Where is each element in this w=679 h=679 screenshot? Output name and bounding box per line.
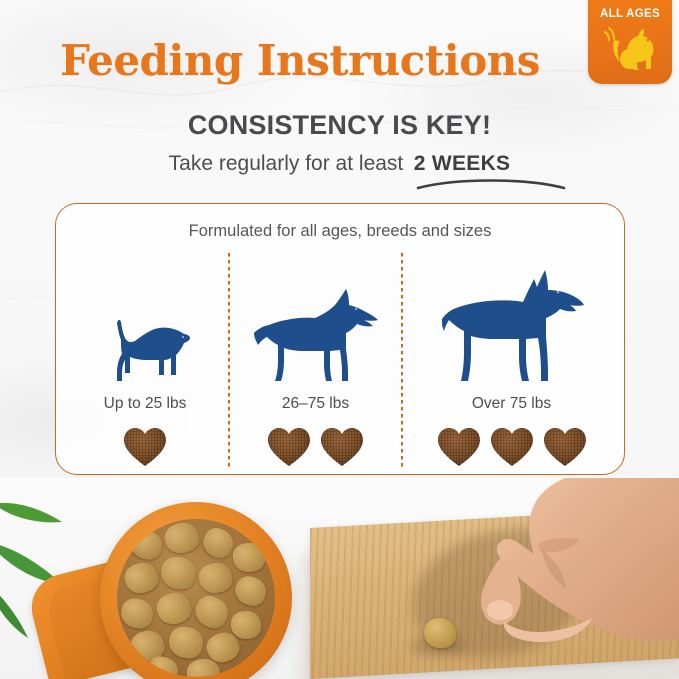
treat-row-medium [266, 422, 365, 472]
hand-holding-kibble [438, 478, 679, 648]
size-column-small: Up to 25 lbs [62, 250, 228, 472]
size-label: Over 75 lbs [472, 395, 551, 413]
page-title: Feeding Instructions [0, 36, 600, 85]
medium-dog-silhouette-icon [252, 287, 380, 385]
large-dog-silhouette-icon [438, 265, 586, 385]
kibble-piece [159, 555, 197, 590]
kibble-piece [128, 528, 164, 562]
size-column-large: Over 75 lbs [403, 250, 620, 472]
bowl-interior [117, 519, 275, 677]
orange-dog-bowl [100, 502, 292, 679]
size-column-medium: 26–75 lbs [230, 250, 401, 472]
kibble-piece [119, 596, 156, 630]
subtitle-consistency: CONSISTENCY IS KEY! [0, 110, 679, 141]
dog-slot [438, 265, 586, 385]
heart-treat-icon [266, 426, 312, 468]
tagline-emphasis: 2 WEEKS [414, 152, 511, 175]
kibble-piece [161, 519, 203, 558]
heart-treat-icon [319, 426, 365, 468]
tagline-row: Take regularly for at least 2 WEEKS [0, 152, 679, 176]
dog-slot [252, 265, 380, 385]
kibble-piece [121, 558, 163, 598]
tagline-prefix: Take regularly for at least [169, 152, 404, 175]
product-photo [0, 478, 679, 679]
heart-treat-icon [542, 426, 588, 468]
kibble-piece [231, 541, 267, 574]
treat-row-large [436, 422, 588, 472]
all-ages-badge-label: ALL AGES [588, 8, 672, 20]
kibble-piece [190, 592, 232, 633]
tagline-underline-arc [416, 177, 566, 191]
heart-treat-icon [436, 426, 482, 468]
infographic-canvas: Feeding Instructions ALL AGES CONSISTENC… [0, 0, 679, 679]
sitting-dog-icon [601, 24, 659, 74]
kibble-piece [196, 559, 235, 596]
size-label: 26–75 lbs [282, 395, 349, 413]
kibble-piece [153, 588, 196, 629]
all-ages-badge: ALL AGES [588, 0, 672, 84]
heart-treat-icon [122, 426, 168, 468]
feeding-chart-card: Formulated for all ages, breeds and size… [55, 203, 625, 475]
size-label: Up to 25 lbs [104, 395, 187, 413]
kibble-piece [231, 573, 269, 609]
dog-slot [99, 265, 191, 385]
small-dog-silhouette-icon [99, 313, 191, 385]
green-leaf-icon [0, 498, 64, 544]
kibble-piece [167, 625, 205, 660]
card-note: Formulated for all ages, breeds and size… [56, 222, 624, 241]
treat-row-small [122, 422, 168, 472]
heart-treat-icon [489, 426, 535, 468]
